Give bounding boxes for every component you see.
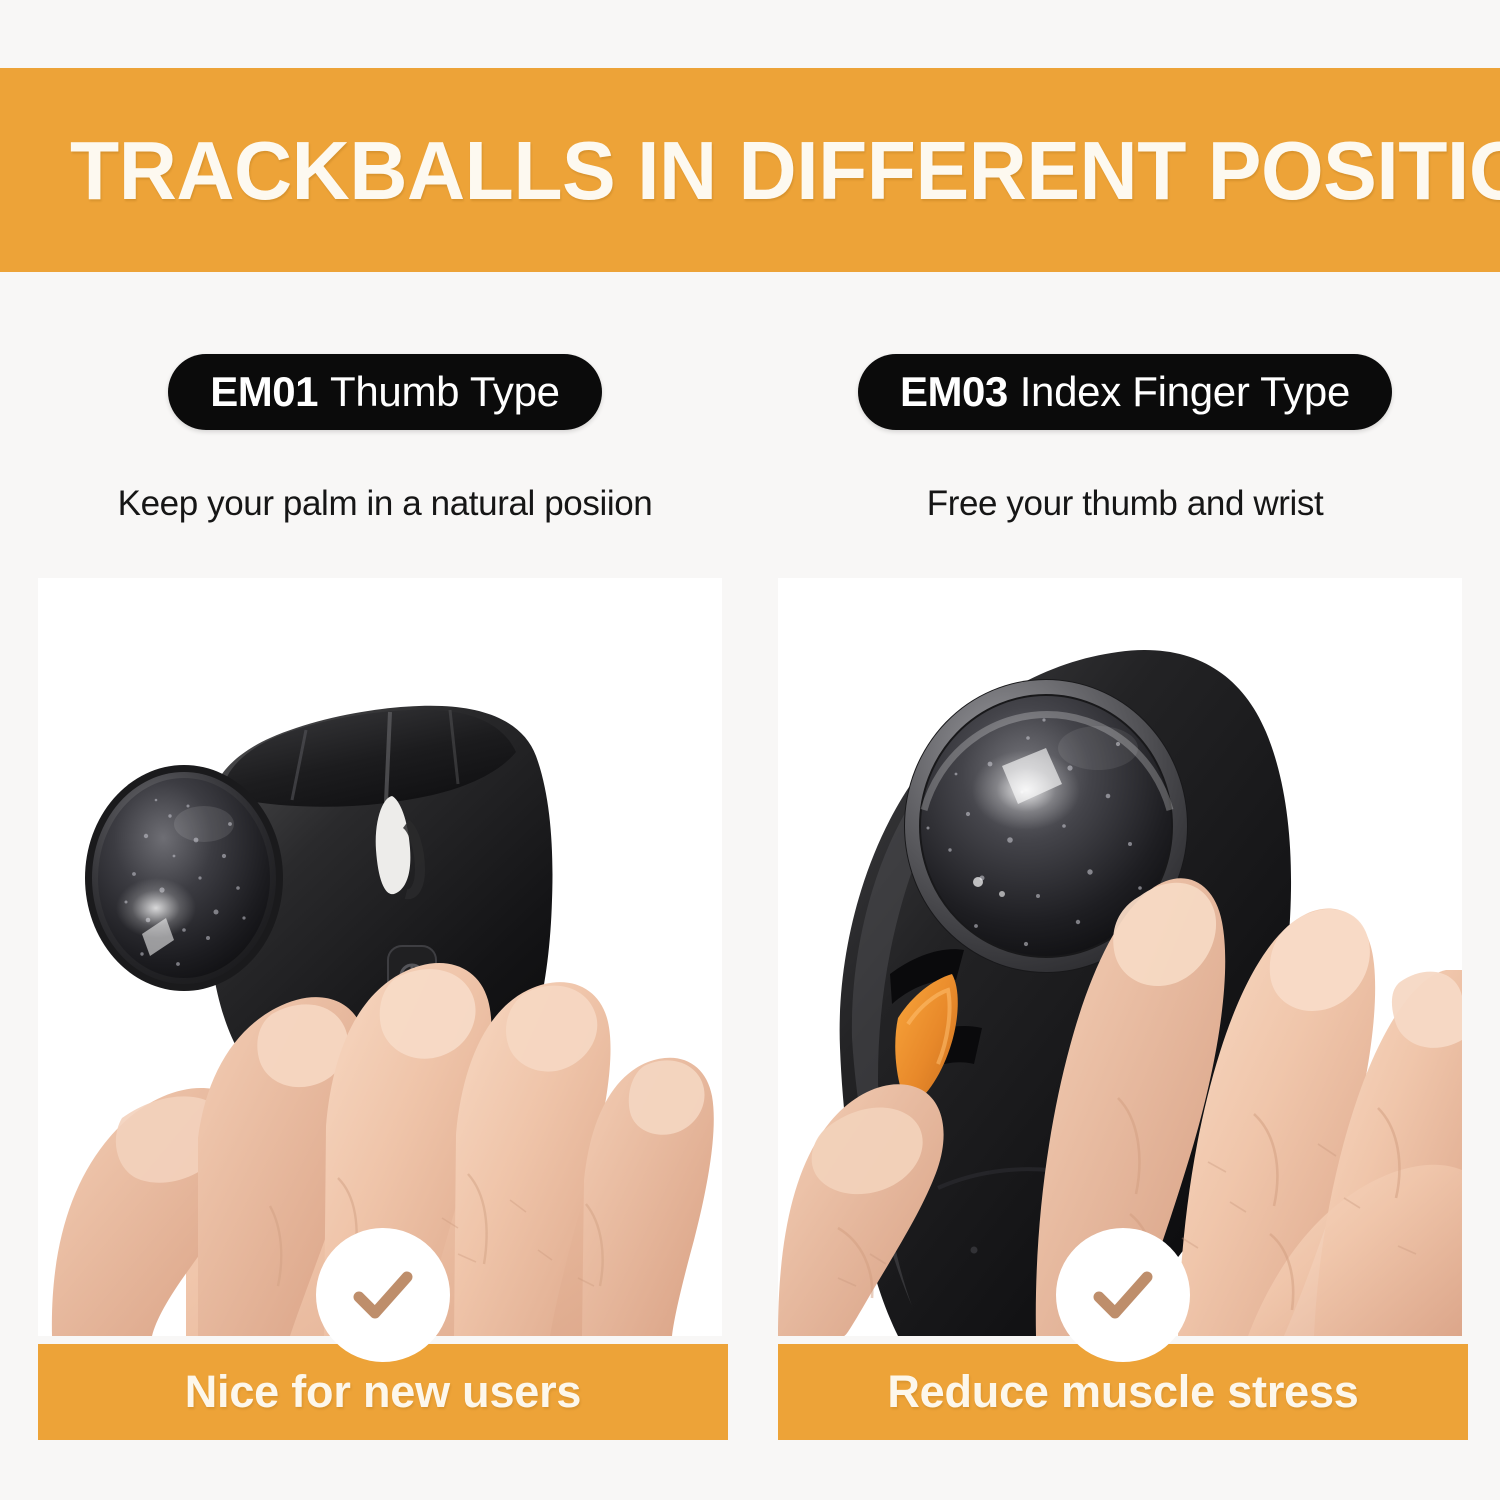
infographic-page: TRACKBALLS IN DIFFERENT POSITIONS EM01 T… (0, 0, 1500, 1500)
model-type-label: Index Finger Type (1020, 368, 1350, 416)
product-photo-em03 (778, 578, 1462, 1336)
check-badge-em01 (316, 1228, 450, 1362)
subtitle-em03: Free your thumb and wrist (760, 484, 1490, 524)
model-badge-em01[interactable]: EM01 Thumb Type (168, 354, 601, 430)
model-code-label: EM01 (210, 368, 318, 416)
check-icon (1083, 1255, 1163, 1335)
pill-row-em03: EM03 Index Finger Type (760, 354, 1490, 430)
model-type-label: Thumb Type (330, 368, 560, 416)
thumb-trackball-illustration (38, 578, 722, 1336)
product-photo-em01 (38, 578, 722, 1336)
page-title: TRACKBALLS IN DIFFERENT POSITIONS (70, 129, 1500, 212)
caption-text-em03: Reduce muscle stress (887, 1366, 1358, 1418)
check-icon (343, 1255, 423, 1335)
model-badge-em03[interactable]: EM03 Index Finger Type (858, 354, 1392, 430)
comparison-columns: EM01 Thumb Type Keep your palm in a natu… (0, 272, 1500, 1500)
column-em03: EM03 Index Finger Type Free your thumb a… (760, 272, 1490, 1500)
title-banner: TRACKBALLS IN DIFFERENT POSITIONS (0, 68, 1500, 272)
subtitle-em01: Keep your palm in a natural posiion (20, 484, 750, 524)
caption-text-em01: Nice for new users (185, 1366, 582, 1418)
column-em01: EM01 Thumb Type Keep your palm in a natu… (20, 272, 750, 1500)
index-finger-trackball-illustration (778, 578, 1462, 1336)
check-badge-em03 (1056, 1228, 1190, 1362)
model-code-label: EM03 (900, 368, 1008, 416)
pill-row-em01: EM01 Thumb Type (20, 354, 750, 430)
body-dot (971, 1247, 978, 1254)
trackball (98, 778, 270, 978)
